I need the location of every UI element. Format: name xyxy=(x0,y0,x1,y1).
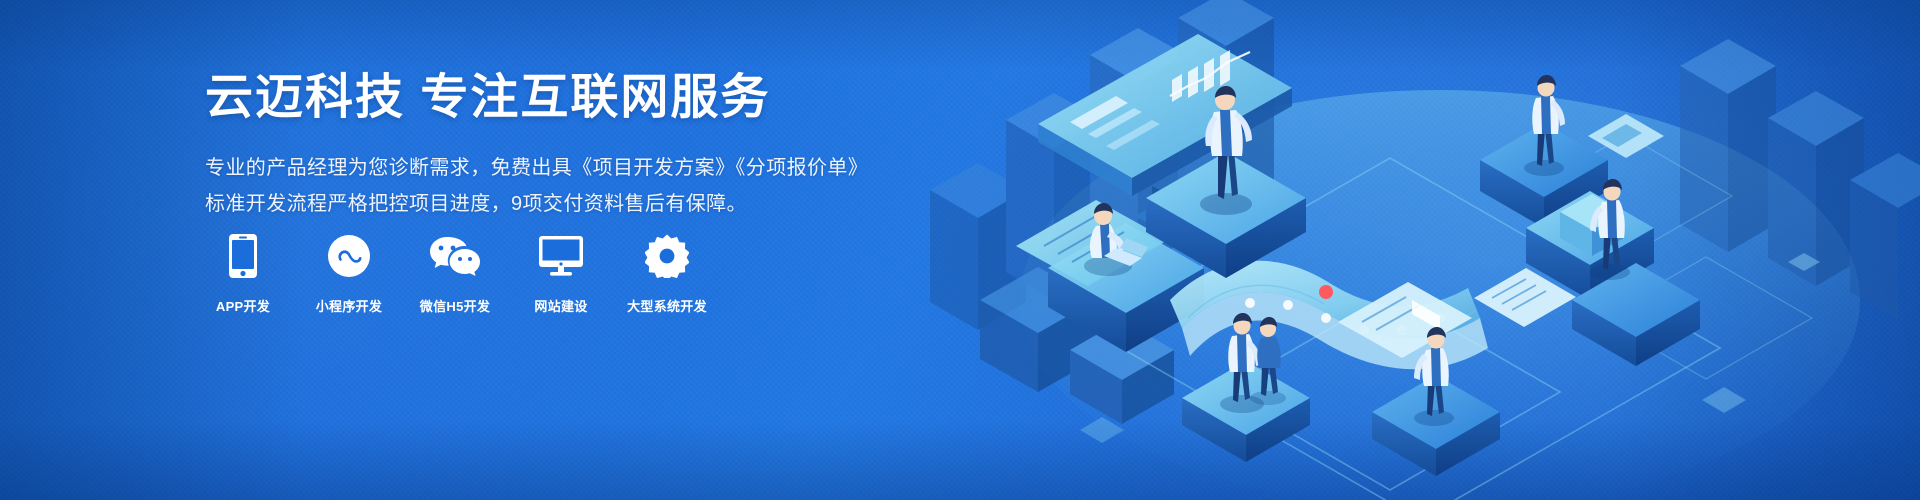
banner-copy: 云迈科技 专注互联网服务 专业的产品经理为您诊断需求，免费出具《项目开发方案》《… xyxy=(205,68,1105,223)
service-label: 微信H5开发 xyxy=(420,296,490,315)
gear-icon xyxy=(645,232,689,280)
service-label: 网站建设 xyxy=(534,296,587,315)
service-item-large-system[interactable]: 大型系统开发 xyxy=(629,232,705,315)
mini-program-icon xyxy=(327,232,371,280)
wechat-icon xyxy=(428,232,482,280)
banner-subcopy: 专业的产品经理为您诊断需求，免费出具《项目开发方案》《分项报价单》 标准开发流程… xyxy=(205,150,1105,223)
hero-banner: 云迈科技 专注互联网服务 专业的产品经理为您诊断需求，免费出具《项目开发方案》《… xyxy=(0,0,1920,500)
service-label: 大型系统开发 xyxy=(627,296,707,315)
service-item-website[interactable]: 网站建设 xyxy=(523,232,599,315)
service-label: 小程序开发 xyxy=(316,296,383,315)
service-icon-row: APP开发 小程序开发 xyxy=(205,232,705,315)
service-item-app[interactable]: APP开发 xyxy=(205,232,281,315)
service-item-wechat-h5[interactable]: 微信H5开发 xyxy=(417,232,493,315)
subcopy-line-2: 标准开发流程严格把控项目进度，9项交付资料售后有保障。 xyxy=(205,186,1105,222)
service-item-miniprogram[interactable]: 小程序开发 xyxy=(311,232,387,315)
service-label: APP开发 xyxy=(216,296,270,315)
mobile-phone-icon xyxy=(228,232,258,280)
subcopy-line-1: 专业的产品经理为您诊断需求，免费出具《项目开发方案》《分项报价单》 xyxy=(205,150,1105,186)
page-title: 云迈科技 专注互联网服务 xyxy=(205,68,1105,128)
monitor-icon xyxy=(538,232,584,280)
